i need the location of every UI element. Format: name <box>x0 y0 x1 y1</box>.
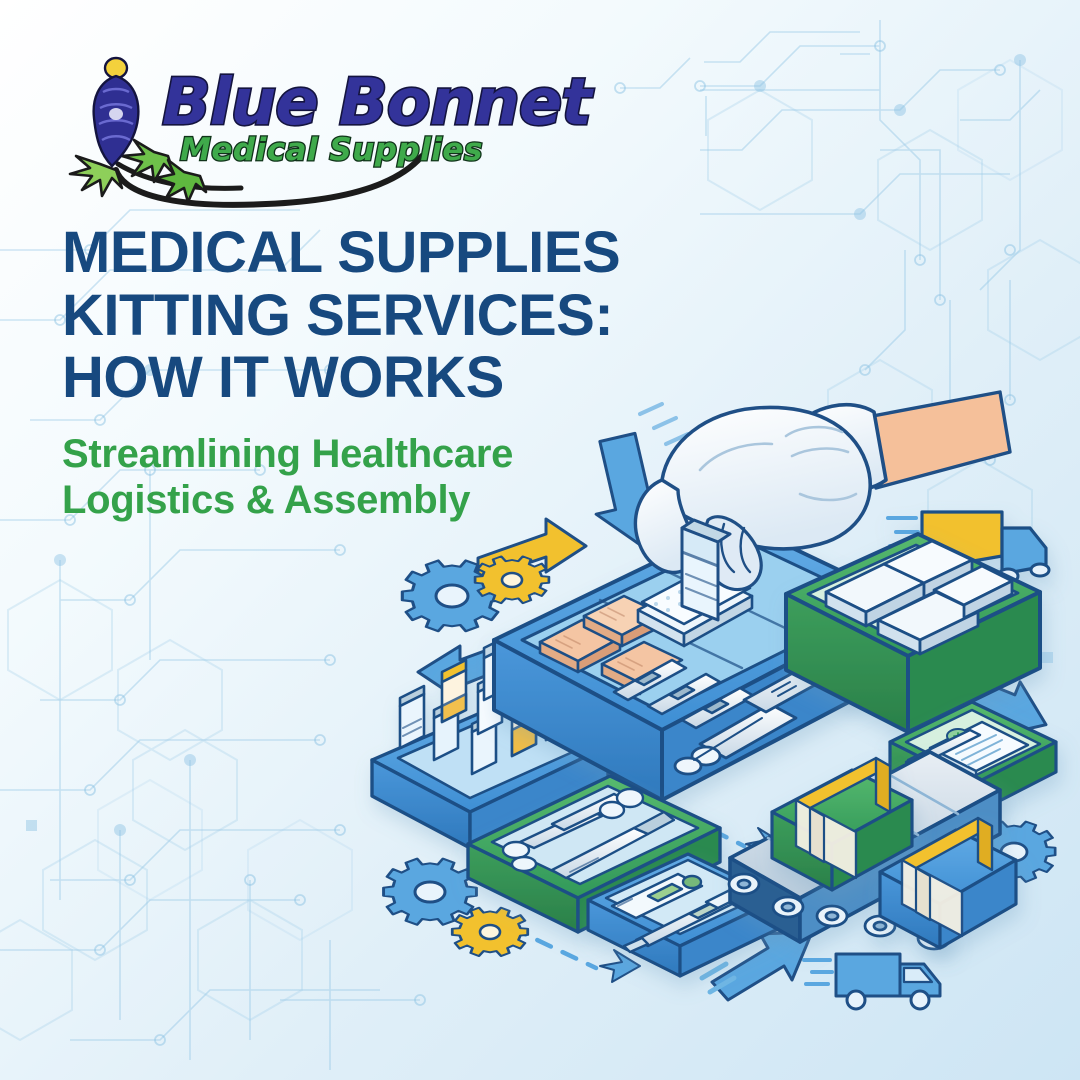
vial-icon <box>400 686 424 748</box>
poster-canvas: Blue Bonnet Medical Supplies MEDICAL SUP… <box>0 0 1080 1080</box>
delivery-truck-icon <box>804 954 940 1009</box>
vial-icon <box>442 660 466 722</box>
medical-kitting-illustration <box>0 0 1080 1080</box>
